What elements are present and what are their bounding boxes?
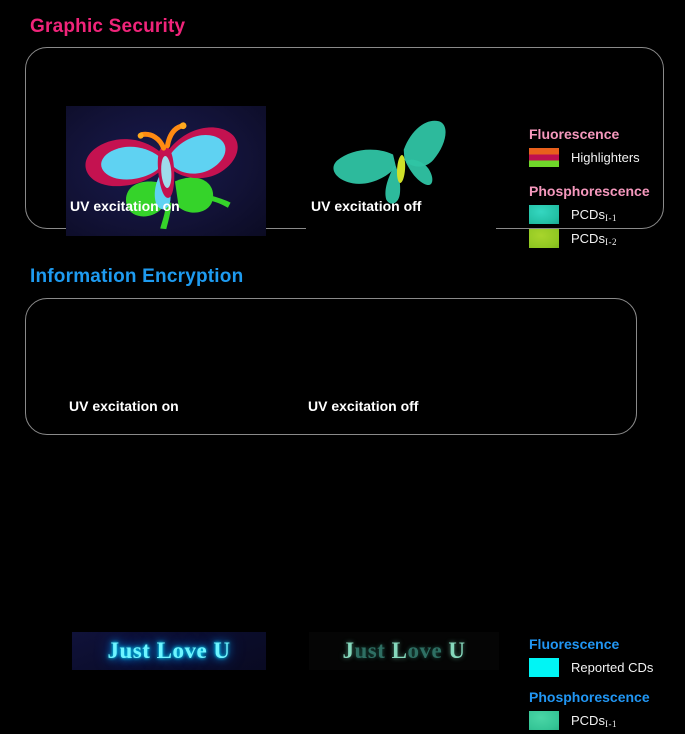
- legend-information-encryption: Fluorescence Reported CDs Phosphorescenc…: [529, 636, 653, 734]
- legend-label-pcds-i1-info: PCDsI-1: [571, 713, 617, 729]
- legend-entry-highlighters: Highlighters: [529, 147, 650, 168]
- legend-graphic-security: Fluorescence Highlighters Phosphorescenc…: [529, 126, 650, 252]
- legend-label-pcds-i2-subscript: I-2: [605, 237, 617, 247]
- swatch-highlighters: [529, 148, 559, 167]
- legend-label-reported-cds: Reported CDs: [571, 660, 653, 675]
- legend-heading-fluorescence-info: Fluorescence: [529, 636, 653, 652]
- caption-butterfly-uv-on: UV excitation on: [70, 198, 180, 214]
- butterfly-uv-off-illustration: [306, 106, 496, 236]
- legend-heading-fluorescence: Fluorescence: [529, 126, 650, 142]
- legend-entry-pcds-i1-info: PCDsI-1: [529, 710, 653, 731]
- caption-text-uv-off: UV excitation off: [308, 398, 418, 414]
- legend-heading-phosphorescence: Phosphorescence: [529, 183, 650, 199]
- just-love-u-uv-on-photo: Just Love U: [72, 632, 266, 670]
- legend-label-pcds-i2: PCDsI-2: [571, 231, 617, 247]
- legend-label-highlighters: Highlighters: [571, 150, 640, 165]
- legend-label-pcds-i1-subscript: I-1: [605, 213, 617, 223]
- legend-label-pcds-i1-text: PCDs: [571, 207, 605, 222]
- figure-canvas: Graphic Security: [0, 0, 685, 454]
- legend-label-pcds-i1-info-subscript: I-1: [605, 719, 617, 729]
- glow-text-uv-on: Just Love U: [72, 638, 266, 664]
- swatch-pcds-i1: [529, 205, 559, 224]
- butterfly-uv-on-illustration: [66, 106, 266, 236]
- swatch-reported-cds: [529, 658, 559, 677]
- legend-entry-reported-cds: Reported CDs: [529, 657, 653, 678]
- butterfly-uv-on-photo: [66, 106, 266, 236]
- caption-text-uv-on: UV excitation on: [69, 398, 179, 414]
- legend-heading-phosphorescence-info: Phosphorescence: [529, 689, 653, 705]
- legend-label-pcds-i1: PCDsI-1: [571, 207, 617, 223]
- legend-entry-pcds-i2: PCDsI-2: [529, 228, 650, 249]
- legend-label-pcds-i2-text: PCDs: [571, 231, 605, 246]
- swatch-pcds-i2: [529, 229, 559, 248]
- section-title-information-encryption: Information Encryption: [30, 266, 243, 288]
- swatch-pcds-i1-info: [529, 711, 559, 730]
- butterfly-uv-off-photo: [306, 106, 496, 236]
- legend-entry-pcds-i1: PCDsI-1: [529, 204, 650, 225]
- legend-label-pcds-i1-info-text: PCDs: [571, 713, 605, 728]
- just-love-u-uv-off-photo: Just Love U: [309, 632, 499, 670]
- panel-information-encryption: Just Love U Just Love U Fluorescence Rep…: [25, 298, 637, 435]
- section-title-graphic-security: Graphic Security: [30, 16, 185, 38]
- glow-text-uv-off: Just Love U: [309, 638, 499, 664]
- caption-butterfly-uv-off: UV excitation off: [311, 198, 421, 214]
